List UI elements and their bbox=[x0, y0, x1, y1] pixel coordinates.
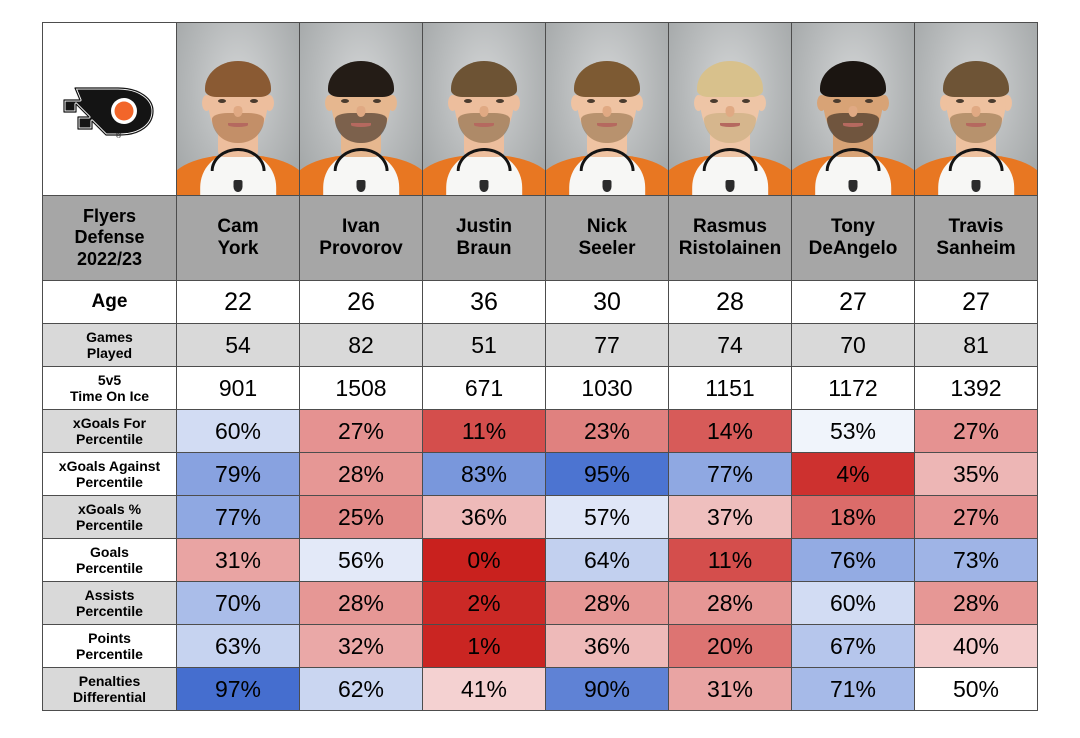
player-headshot-cell bbox=[669, 23, 792, 196]
row-label: xGoals AgainstPercentile bbox=[43, 453, 177, 496]
player-first-name: Justin bbox=[423, 216, 545, 238]
table-title-line: Defense bbox=[43, 227, 176, 248]
stat-cell-heatmap: 0% bbox=[423, 539, 546, 582]
eye-left bbox=[833, 99, 841, 103]
stat-cell-heatmap: 18% bbox=[792, 496, 915, 539]
row-label-line: Age bbox=[45, 291, 174, 313]
stat-cell-heatmap: 62% bbox=[300, 668, 423, 711]
eye-left bbox=[710, 99, 718, 103]
row-label-line: xGoals % bbox=[45, 501, 174, 517]
row-label-line: 5v5 bbox=[45, 372, 174, 388]
table-row: PointsPercentile63%32%1%36%20%67%40% bbox=[43, 625, 1038, 668]
table-title-line: Flyers bbox=[43, 206, 176, 227]
row-label-line: Percentile bbox=[45, 431, 174, 447]
player-name-header[interactable]: TonyDeAngelo bbox=[792, 196, 915, 281]
stat-cell-heatmap: 28% bbox=[915, 582, 1038, 625]
nose bbox=[234, 106, 243, 117]
table-title-cell: FlyersDefense2022/23 bbox=[43, 196, 177, 281]
player-last-name: Ristolainen bbox=[669, 238, 791, 260]
player-last-name: Sanheim bbox=[915, 238, 1037, 260]
stat-cell-heatmap: 20% bbox=[669, 625, 792, 668]
player-first-name: Tony bbox=[792, 216, 914, 238]
table-row: PenaltiesDifferential97%62%41%90%31%71%5… bbox=[43, 668, 1038, 711]
row-label: PenaltiesDifferential bbox=[43, 668, 177, 711]
eye-left bbox=[218, 99, 226, 103]
nose bbox=[603, 106, 612, 117]
stat-cell-heatmap: 36% bbox=[423, 496, 546, 539]
stat-cell-heatmap: 27% bbox=[915, 410, 1038, 453]
stat-cell-heatmap: 35% bbox=[915, 453, 1038, 496]
table-body: ® FlyersDefense2022/23 CamYorkIvanProvor… bbox=[43, 23, 1038, 711]
stat-cell-heatmap: 28% bbox=[669, 582, 792, 625]
stat-cell: 1030 bbox=[546, 367, 669, 410]
row-label-line: Percentile bbox=[45, 517, 174, 533]
player-name-header[interactable]: IvanProvorov bbox=[300, 196, 423, 281]
row-label: Age bbox=[43, 281, 177, 324]
eye-right bbox=[865, 99, 873, 103]
table-title: FlyersDefense2022/23 bbox=[43, 206, 176, 270]
stat-cell-heatmap: 60% bbox=[177, 410, 300, 453]
player-headshot-cell bbox=[792, 23, 915, 196]
stat-cell-heatmap: 41% bbox=[423, 668, 546, 711]
stat-cell-heatmap: 36% bbox=[546, 625, 669, 668]
stat-cell-heatmap: 32% bbox=[300, 625, 423, 668]
player-headshot-cell bbox=[915, 23, 1038, 196]
mouth bbox=[228, 123, 248, 127]
stat-cell: 1508 bbox=[300, 367, 423, 410]
stat-cell-heatmap: 70% bbox=[177, 582, 300, 625]
svg-text:®: ® bbox=[116, 132, 122, 140]
table-title-line: 2022/23 bbox=[43, 249, 176, 270]
player-first-name: Rasmus bbox=[669, 216, 791, 238]
nhl-crest-icon bbox=[603, 180, 612, 192]
stat-cell: 1172 bbox=[792, 367, 915, 410]
player-headshot-cell bbox=[177, 23, 300, 196]
stat-cell-heatmap: 79% bbox=[177, 453, 300, 496]
player-last-name: Braun bbox=[423, 238, 545, 260]
stat-cell-heatmap: 53% bbox=[792, 410, 915, 453]
stat-cell: 82 bbox=[300, 324, 423, 367]
stat-cell: 30 bbox=[546, 281, 669, 324]
row-label-line: Percentile bbox=[45, 603, 174, 619]
player-first-name: Cam bbox=[177, 216, 299, 238]
nose bbox=[480, 106, 489, 117]
stat-cell-heatmap: 28% bbox=[546, 582, 669, 625]
row-label: GoalsPercentile bbox=[43, 539, 177, 582]
mouth bbox=[843, 123, 863, 127]
eye-left bbox=[587, 99, 595, 103]
eye-right bbox=[250, 99, 258, 103]
row-label-line: Goals bbox=[45, 544, 174, 560]
stat-cell: 36 bbox=[423, 281, 546, 324]
row-label-line: Games bbox=[45, 329, 174, 345]
row-label-line: Played bbox=[45, 345, 174, 361]
player-headshot-provorov bbox=[300, 23, 422, 195]
row-label-line: xGoals For bbox=[45, 415, 174, 431]
eye-left bbox=[956, 99, 964, 103]
nose bbox=[849, 106, 858, 117]
stat-cell-heatmap: 77% bbox=[177, 496, 300, 539]
stat-cell-heatmap: 27% bbox=[300, 410, 423, 453]
eye-right bbox=[988, 99, 996, 103]
stat-cell: 28 bbox=[669, 281, 792, 324]
stat-cell: 901 bbox=[177, 367, 300, 410]
player-name-header[interactable]: TravisSanheim bbox=[915, 196, 1038, 281]
mouth bbox=[720, 123, 740, 127]
player-last-name: York bbox=[177, 238, 299, 260]
stat-cell-heatmap: 77% bbox=[669, 453, 792, 496]
table-row: xGoals %Percentile77%25%36%57%37%18%27% bbox=[43, 496, 1038, 539]
row-label-line: Points bbox=[45, 630, 174, 646]
stat-cell-heatmap: 31% bbox=[177, 539, 300, 582]
mouth bbox=[597, 123, 617, 127]
stat-cell-heatmap: 57% bbox=[546, 496, 669, 539]
stat-cell-heatmap: 28% bbox=[300, 453, 423, 496]
player-name-header[interactable]: NickSeeler bbox=[546, 196, 669, 281]
player-headshot-cell bbox=[546, 23, 669, 196]
stat-cell: 27 bbox=[792, 281, 915, 324]
stat-table: ® FlyersDefense2022/23 CamYorkIvanProvor… bbox=[42, 22, 1038, 711]
player-name-row: FlyersDefense2022/23 CamYorkIvanProvorov… bbox=[43, 196, 1038, 281]
stat-cell: 1392 bbox=[915, 367, 1038, 410]
stat-cell: 70 bbox=[792, 324, 915, 367]
nose bbox=[972, 106, 981, 117]
row-label: GamesPlayed bbox=[43, 324, 177, 367]
stat-cell-heatmap: 27% bbox=[915, 496, 1038, 539]
player-headshot-cell bbox=[300, 23, 423, 196]
nose bbox=[357, 106, 366, 117]
player-headshot-deangelo bbox=[792, 23, 914, 195]
player-first-name: Travis bbox=[915, 216, 1037, 238]
nhl-crest-icon bbox=[726, 180, 735, 192]
stat-cell-heatmap: 50% bbox=[915, 668, 1038, 711]
row-label-line: Percentile bbox=[45, 646, 174, 662]
row-label-line: Assists bbox=[45, 587, 174, 603]
eye-right bbox=[742, 99, 750, 103]
stat-cell-heatmap: 73% bbox=[915, 539, 1038, 582]
stat-cell: 74 bbox=[669, 324, 792, 367]
table-row: Age22263630282727 bbox=[43, 281, 1038, 324]
stat-cell-heatmap: 40% bbox=[915, 625, 1038, 668]
stat-cell-heatmap: 14% bbox=[669, 410, 792, 453]
row-label: xGoals %Percentile bbox=[43, 496, 177, 539]
mouth bbox=[474, 123, 494, 127]
table-row: AssistsPercentile70%28%2%28%28%60%28% bbox=[43, 582, 1038, 625]
stat-cell-heatmap: 60% bbox=[792, 582, 915, 625]
stat-cell-heatmap: 11% bbox=[423, 410, 546, 453]
player-headshot-braun bbox=[423, 23, 545, 195]
table-row: xGoals ForPercentile60%27%11%23%14%53%27… bbox=[43, 410, 1038, 453]
nose bbox=[726, 106, 735, 117]
stat-cell-heatmap: 76% bbox=[792, 539, 915, 582]
player-first-name: Ivan bbox=[300, 216, 422, 238]
row-label-line: Differential bbox=[45, 689, 174, 705]
stat-cell: 51 bbox=[423, 324, 546, 367]
stat-cell-heatmap: 90% bbox=[546, 668, 669, 711]
mouth bbox=[966, 123, 986, 127]
stat-cell-heatmap: 71% bbox=[792, 668, 915, 711]
player-first-name: Nick bbox=[546, 216, 668, 238]
stat-cell-heatmap: 64% bbox=[546, 539, 669, 582]
stat-cell: 22 bbox=[177, 281, 300, 324]
stat-cell-heatmap: 97% bbox=[177, 668, 300, 711]
stat-cell: 1151 bbox=[669, 367, 792, 410]
stat-cell: 26 bbox=[300, 281, 423, 324]
table-row: xGoals AgainstPercentile79%28%83%95%77%4… bbox=[43, 453, 1038, 496]
row-label-line: Penalties bbox=[45, 673, 174, 689]
nhl-crest-icon bbox=[972, 180, 981, 192]
player-photo-row: ® bbox=[43, 23, 1038, 196]
mouth bbox=[351, 123, 371, 127]
stat-cell: 54 bbox=[177, 324, 300, 367]
player-last-name: Provorov bbox=[300, 238, 422, 260]
row-label-line: Percentile bbox=[45, 560, 174, 576]
row-label-line: xGoals Against bbox=[45, 458, 174, 474]
eye-left bbox=[464, 99, 472, 103]
stat-cell: 671 bbox=[423, 367, 546, 410]
player-last-name: Seeler bbox=[546, 238, 668, 260]
nhl-crest-icon bbox=[849, 180, 858, 192]
stat-cell-heatmap: 37% bbox=[669, 496, 792, 539]
stat-cell-heatmap: 63% bbox=[177, 625, 300, 668]
table-row: GamesPlayed54825177747081 bbox=[43, 324, 1038, 367]
stat-cell-heatmap: 2% bbox=[423, 582, 546, 625]
nhl-crest-icon bbox=[357, 180, 366, 192]
stat-cell: 77 bbox=[546, 324, 669, 367]
table-row: GoalsPercentile31%56%0%64%11%76%73% bbox=[43, 539, 1038, 582]
eye-right bbox=[619, 99, 627, 103]
eye-right bbox=[496, 99, 504, 103]
player-last-name: DeAngelo bbox=[792, 238, 914, 260]
player-headshot-sanheim bbox=[915, 23, 1037, 195]
player-headshot-cell bbox=[423, 23, 546, 196]
stat-cell-heatmap: 95% bbox=[546, 453, 669, 496]
stat-cell-heatmap: 83% bbox=[423, 453, 546, 496]
player-headshot-ristolainen bbox=[669, 23, 791, 195]
row-label: AssistsPercentile bbox=[43, 582, 177, 625]
flyers-logo-icon: ® bbox=[43, 23, 176, 195]
stat-cell-heatmap: 1% bbox=[423, 625, 546, 668]
stat-cell: 81 bbox=[915, 324, 1038, 367]
row-label: PointsPercentile bbox=[43, 625, 177, 668]
stat-cell-heatmap: 23% bbox=[546, 410, 669, 453]
stat-cell-heatmap: 67% bbox=[792, 625, 915, 668]
stat-cell: 27 bbox=[915, 281, 1038, 324]
player-headshot-york bbox=[177, 23, 299, 195]
flyers-defense-stat-card: ® FlyersDefense2022/23 CamYorkIvanProvor… bbox=[0, 0, 1080, 738]
stat-cell-heatmap: 25% bbox=[300, 496, 423, 539]
stat-cell-heatmap: 31% bbox=[669, 668, 792, 711]
player-name-header[interactable]: JustinBraun bbox=[423, 196, 546, 281]
row-label: 5v5Time On Ice bbox=[43, 367, 177, 410]
nhl-crest-icon bbox=[480, 180, 489, 192]
eye-right bbox=[373, 99, 381, 103]
player-headshot-seeler bbox=[546, 23, 668, 195]
row-label: xGoals ForPercentile bbox=[43, 410, 177, 453]
table-row: 5v5Time On Ice90115086711030115111721392 bbox=[43, 367, 1038, 410]
row-label-line: Time On Ice bbox=[45, 388, 174, 404]
row-label-line: Percentile bbox=[45, 474, 174, 490]
stat-cell-heatmap: 56% bbox=[300, 539, 423, 582]
stat-cell-heatmap: 11% bbox=[669, 539, 792, 582]
player-name-header[interactable]: CamYork bbox=[177, 196, 300, 281]
stat-cell-heatmap: 4% bbox=[792, 453, 915, 496]
player-name-header[interactable]: RasmusRistolainen bbox=[669, 196, 792, 281]
team-logo-cell: ® bbox=[43, 23, 177, 196]
eye-left bbox=[341, 99, 349, 103]
stat-cell-heatmap: 28% bbox=[300, 582, 423, 625]
nhl-crest-icon bbox=[234, 180, 243, 192]
